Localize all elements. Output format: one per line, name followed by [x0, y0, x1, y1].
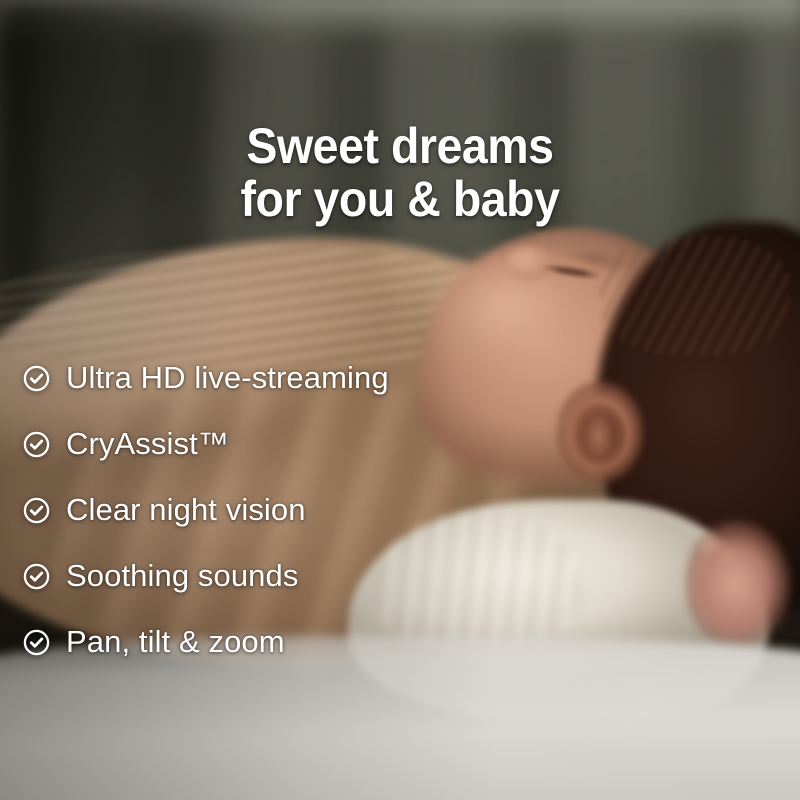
- feature-list: Ultra HD live-streaming CryAssist™ Clear…: [22, 345, 389, 675]
- feature-item-clear-night-vision: Clear night vision: [22, 477, 389, 543]
- headline-line-1: Sweet dreams: [28, 120, 772, 173]
- feature-item-soothing-sounds: Soothing sounds: [22, 543, 389, 609]
- promo-graphic: Sweet dreams for you & baby Ultra HD liv…: [0, 0, 800, 800]
- headline-line-2: for you & baby: [28, 173, 772, 226]
- feature-item-pan-tilt-zoom: Pan, tilt & zoom: [22, 609, 389, 675]
- feature-item-cryassist: CryAssist™: [22, 411, 389, 477]
- feature-label: Pan, tilt & zoom: [66, 624, 285, 660]
- check-circle-icon: [22, 628, 51, 657]
- feature-label: Ultra HD live-streaming: [66, 360, 389, 396]
- feature-label: Clear night vision: [66, 492, 306, 528]
- check-circle-icon: [22, 430, 51, 459]
- feature-label: CryAssist™: [66, 426, 229, 462]
- feature-item-ultra-hd-live-streaming: Ultra HD live-streaming: [22, 345, 389, 411]
- feature-label: Soothing sounds: [66, 558, 298, 594]
- check-circle-icon: [22, 562, 51, 591]
- check-circle-icon: [22, 496, 51, 525]
- check-circle-icon: [22, 364, 51, 393]
- page-title: Sweet dreams for you & baby: [28, 120, 772, 226]
